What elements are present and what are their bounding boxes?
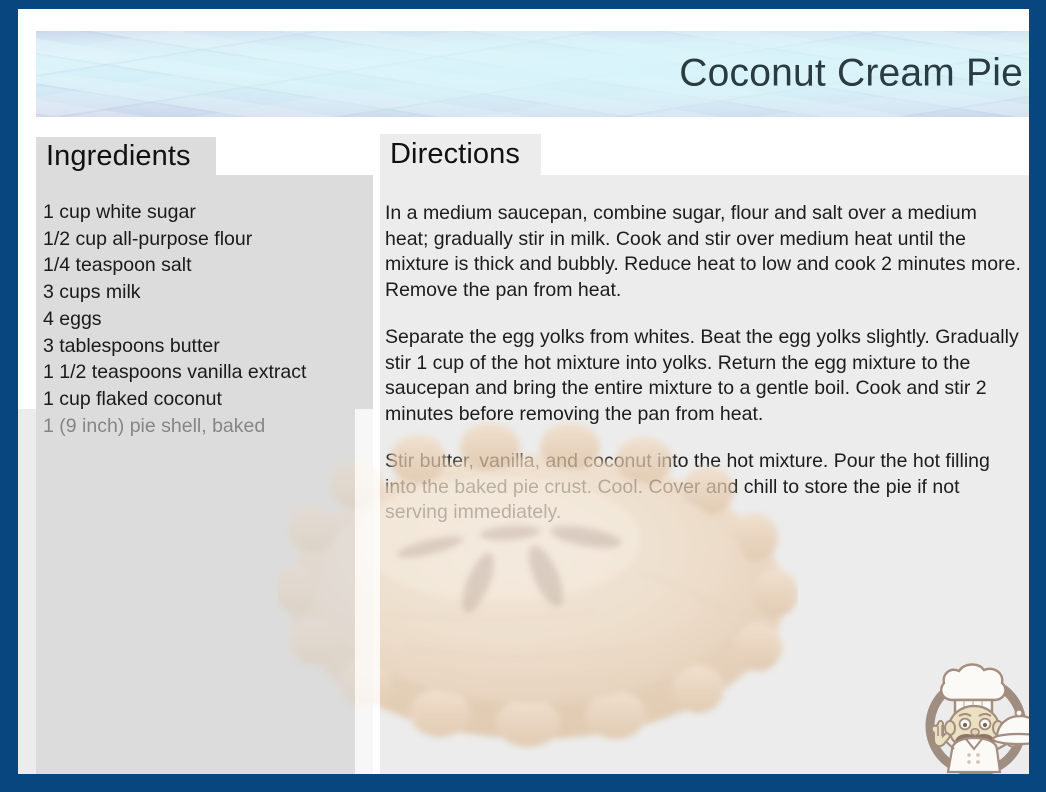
page-title: Coconut Cream Pie [679, 54, 1023, 93]
list-item: 1/4 teaspoon salt [43, 252, 365, 279]
direction-paragraph: Stir butter, vanilla, and coconut into t… [385, 449, 1022, 526]
page-sheet: Coconut Cream Pie Ingredients 1 cup whit… [18, 9, 1029, 774]
directions-tab-label: Directions [390, 138, 520, 171]
direction-paragraph: In a medium saucepan, combine sugar, flo… [385, 201, 1022, 303]
list-item: 4 eggs [43, 306, 365, 333]
list-item: 1 cup flaked coconut [43, 386, 365, 413]
directions-panel: In a medium saucepan, combine sugar, flo… [380, 175, 1029, 774]
direction-paragraph: Separate the egg yolks from whites. Beat… [385, 325, 1022, 427]
ingredients-tab: Ingredients [36, 137, 216, 175]
header-banner: Coconut Cream Pie [36, 31, 1029, 117]
directions-tab: Directions [380, 134, 541, 175]
list-item: 1/2 cup all-purpose flour [43, 226, 365, 253]
recipe-card: Coconut Cream Pie Ingredients 1 cup whit… [0, 0, 1046, 792]
ingredients-tab-label: Ingredients [46, 140, 191, 173]
list-item: 3 cups milk [43, 279, 365, 306]
list-item: 1 1/2 teaspoons vanilla extract [43, 359, 365, 386]
list-item: 1 (9 inch) pie shell, baked [43, 413, 365, 440]
list-item: 1 cup white sugar [43, 199, 365, 226]
list-item: 3 tablespoons butter [43, 333, 365, 360]
directions-text: In a medium saucepan, combine sugar, flo… [385, 201, 1022, 526]
ingredients-panel: 1 cup white sugar 1/2 cup all-purpose fl… [36, 175, 373, 774]
ingredients-list: 1 cup white sugar 1/2 cup all-purpose fl… [43, 199, 365, 439]
